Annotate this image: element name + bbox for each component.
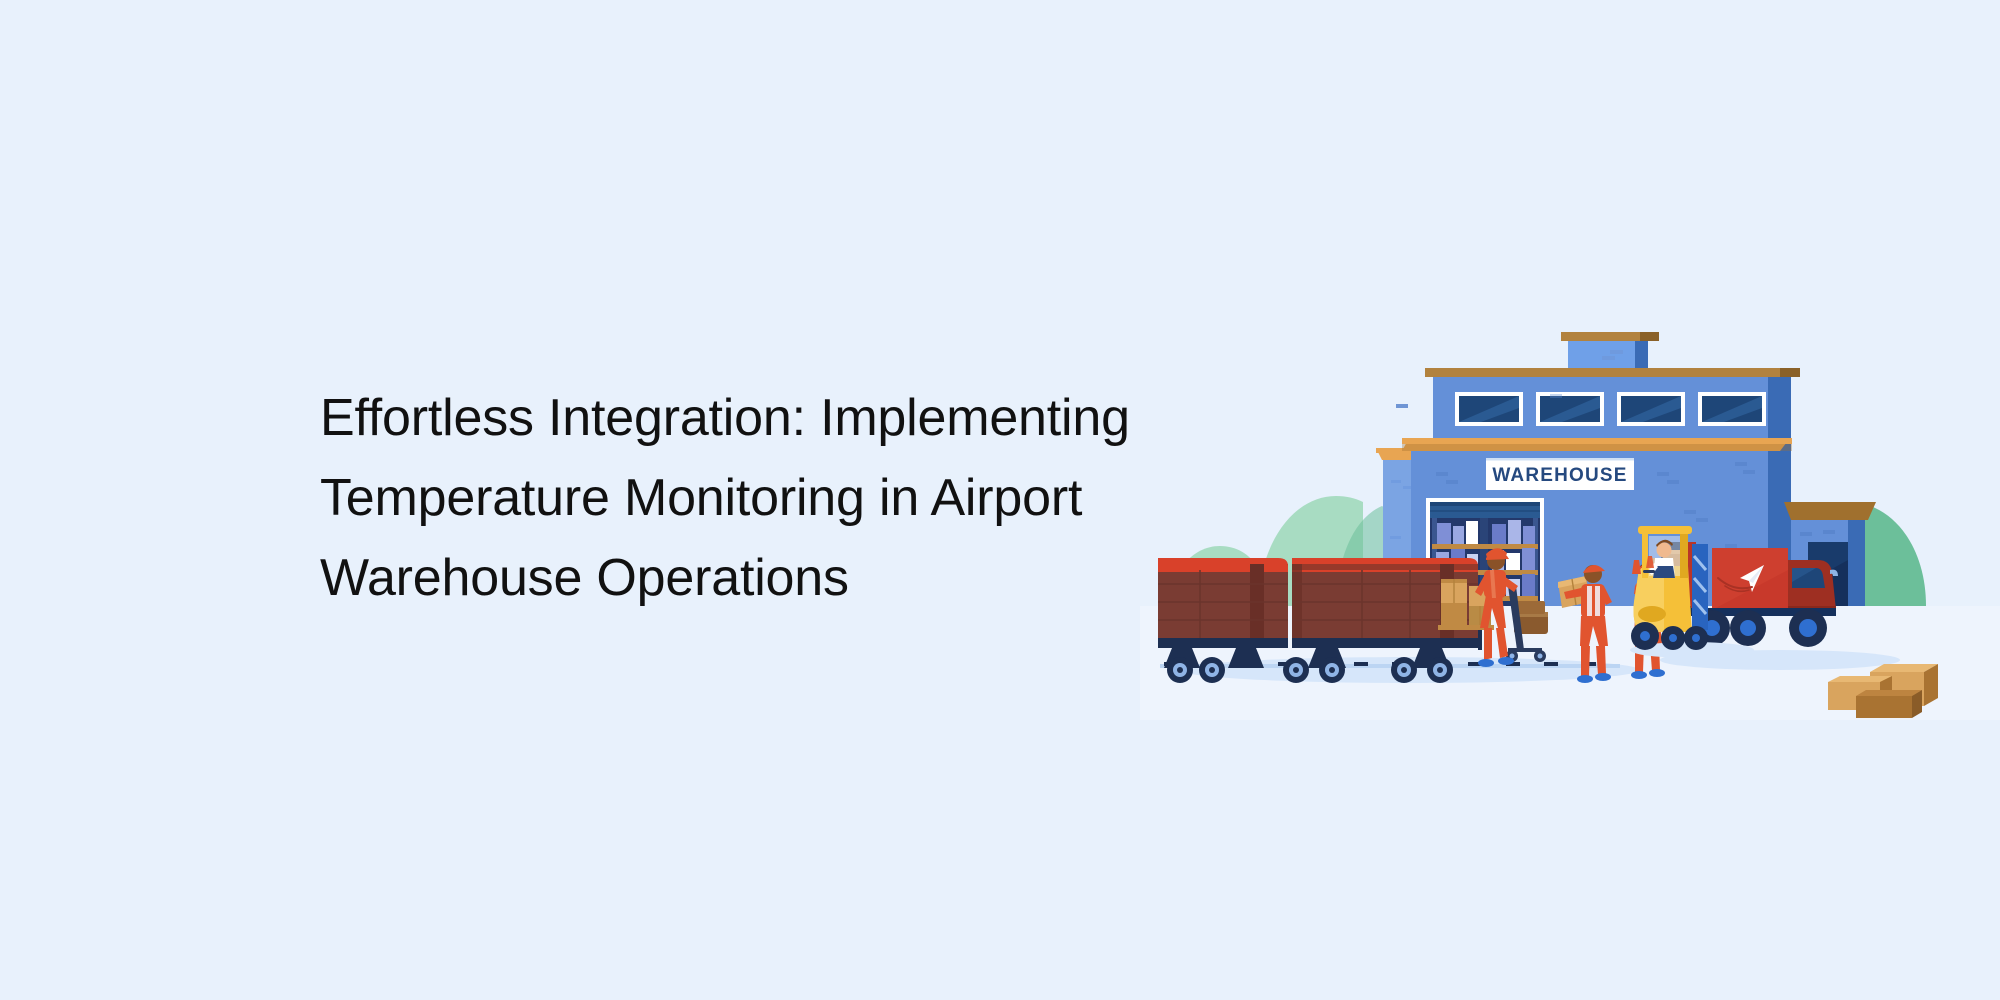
clerestory-window (1617, 392, 1685, 426)
top-cornice (1425, 368, 1800, 377)
warehouse-sign: WAREHOUSE (1486, 458, 1634, 490)
hero-banner: Effortless Integration: Implementing Tem… (0, 0, 2000, 1000)
warehouse-illustration: WAREHOUSE (1140, 320, 2000, 720)
page-title-line-1: Effortless Integration: Implementing (320, 378, 1220, 458)
clerestory-window (1698, 392, 1766, 426)
mid-cornice (1402, 438, 1792, 451)
clerestory-window (1536, 392, 1604, 426)
page-title-line-3: Warehouse Operations (320, 538, 1220, 618)
page-title: Effortless Integration: Implementing Tem… (320, 378, 1220, 618)
clerestory-window (1455, 392, 1523, 426)
rooftop-vent-box (1561, 332, 1659, 368)
page-title-line-2: Temperature Monitoring in Airport (320, 458, 1220, 538)
warehouse-sign-text: WAREHOUSE (1492, 465, 1627, 486)
cardboard-box (1856, 690, 1922, 718)
